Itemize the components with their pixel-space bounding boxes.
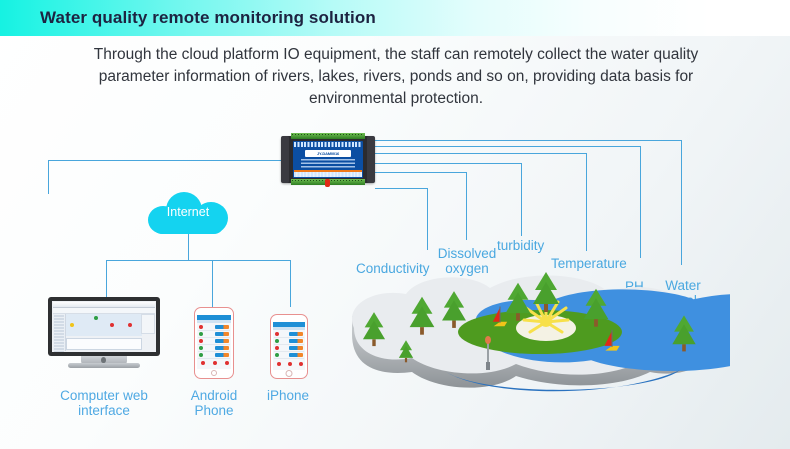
list-item[interactable] — [198, 324, 230, 331]
connector-sensor-ph-h — [375, 146, 640, 147]
android-home-button[interactable] — [211, 370, 217, 376]
device-pin-strip-bottom — [294, 172, 362, 177]
status-icon — [199, 332, 203, 336]
device-model-label: JY-DAM0016 — [305, 150, 351, 157]
lake-scene-svg — [350, 272, 730, 392]
status-dot-red-1 — [110, 323, 114, 327]
status-icon — [275, 339, 279, 343]
row-action[interactable] — [215, 346, 229, 350]
client-label-android-phone: Android Phone — [178, 388, 250, 418]
connector-sensor-oxygen-h — [375, 172, 466, 173]
android-bottom-toolbar[interactable] — [198, 361, 230, 367]
status-icon — [275, 346, 279, 350]
status-icon — [275, 332, 279, 336]
connector-sensor-ph-v — [640, 146, 641, 258]
status-dot-green — [94, 316, 98, 320]
row-action[interactable] — [289, 339, 303, 343]
list-item[interactable] — [274, 331, 304, 338]
internet-cloud[interactable]: Internet — [148, 190, 228, 234]
ios-app-tabs — [273, 327, 305, 330]
status-icon — [199, 353, 203, 357]
app-property-panel — [141, 314, 155, 334]
page-title: Water quality remote monitoring solution — [40, 8, 376, 28]
connector-sensor-temperature-v — [586, 153, 587, 251]
app-tree-sidebar — [53, 314, 66, 351]
connector-to-computer — [106, 260, 107, 298]
connector-sensor-conductivity-h — [375, 188, 427, 189]
toolbar-icon[interactable] — [299, 362, 303, 366]
connector-sensor-turbidity-v — [521, 163, 522, 236]
device-side-right — [367, 136, 375, 183]
list-item[interactable] — [274, 338, 304, 345]
iphone-screen — [273, 322, 305, 370]
toolbar-icon[interactable] — [213, 361, 217, 365]
row-action[interactable] — [215, 353, 229, 357]
sensor-label-temperature: Temperature — [551, 257, 627, 272]
iphone-home-button[interactable] — [286, 370, 293, 377]
device-faceplate: JY-DAM0016 — [293, 141, 363, 178]
row-action[interactable] — [289, 353, 303, 357]
android-phone-device[interactable] — [194, 307, 234, 379]
toolbar-icon[interactable] — [288, 362, 292, 366]
status-icon — [199, 346, 203, 350]
device-printed-text — [301, 159, 355, 169]
device-power-led — [325, 179, 330, 187]
list-item[interactable] — [198, 352, 230, 359]
connector-sensor-water-level-v — [681, 140, 682, 265]
connector-device-to-cloud-h — [48, 160, 282, 161]
page-header: Water quality remote monitoring solution — [0, 0, 790, 36]
device-pin-strip-top — [294, 142, 362, 147]
connector-cloud-bottom — [188, 234, 189, 260]
connector-to-android — [212, 260, 213, 307]
lake-island-illustration — [350, 272, 730, 392]
list-item[interactable] — [274, 345, 304, 352]
connector-client-bus — [106, 260, 291, 261]
sensor-label-turbidity: turbidity — [497, 239, 544, 254]
monitor-foot — [68, 363, 140, 368]
connector-cloud-drop — [48, 160, 49, 194]
toolbar-icon[interactable] — [201, 361, 205, 365]
monitor-screen — [52, 301, 156, 352]
connector-sensor-oxygen-v — [466, 172, 467, 240]
row-action[interactable] — [289, 346, 303, 350]
status-dot-yellow — [70, 323, 74, 327]
android-app-tabs — [197, 320, 231, 323]
status-icon — [199, 325, 203, 329]
monitor-bezel — [48, 297, 160, 356]
connector-sensor-temperature-h — [375, 153, 586, 154]
iphone-device[interactable] — [270, 314, 308, 379]
client-label-computer-web-interface: Computer web interface — [42, 388, 166, 418]
row-action[interactable] — [215, 339, 229, 343]
row-action[interactable] — [215, 325, 229, 329]
app-canvas — [66, 314, 142, 336]
android-phone-screen — [197, 315, 231, 369]
computer-monitor[interactable] — [48, 297, 160, 369]
toolbar-icon[interactable] — [225, 361, 229, 365]
connector-sensor-conductivity-v — [427, 188, 428, 250]
list-item[interactable] — [274, 352, 304, 359]
status-dot-red-2 — [128, 323, 132, 327]
dam-io-module[interactable]: JY-DAM0016 — [281, 133, 375, 186]
page-description: Through the cloud platform IO equipment,… — [62, 44, 730, 110]
status-icon — [199, 339, 203, 343]
device-terminal-block-top — [291, 133, 365, 139]
connector-sensor-turbidity-h — [375, 163, 521, 164]
row-action[interactable] — [289, 332, 303, 336]
toolbar-icon[interactable] — [277, 362, 281, 366]
client-label-iphone: iPhone — [254, 388, 322, 403]
cloud-label: Internet — [148, 205, 228, 219]
row-action[interactable] — [215, 332, 229, 336]
list-item[interactable] — [198, 331, 230, 338]
device-side-left — [281, 136, 289, 183]
connector-sensor-water-level-h — [375, 140, 681, 141]
app-log-panel — [66, 338, 142, 350]
list-item[interactable] — [198, 345, 230, 352]
connector-to-iphone — [290, 260, 291, 307]
list-item[interactable] — [198, 338, 230, 345]
ios-bottom-toolbar[interactable] — [274, 362, 304, 368]
status-icon — [275, 353, 279, 357]
diagram-canvas: Water quality remote monitoring solution… — [0, 0, 790, 449]
